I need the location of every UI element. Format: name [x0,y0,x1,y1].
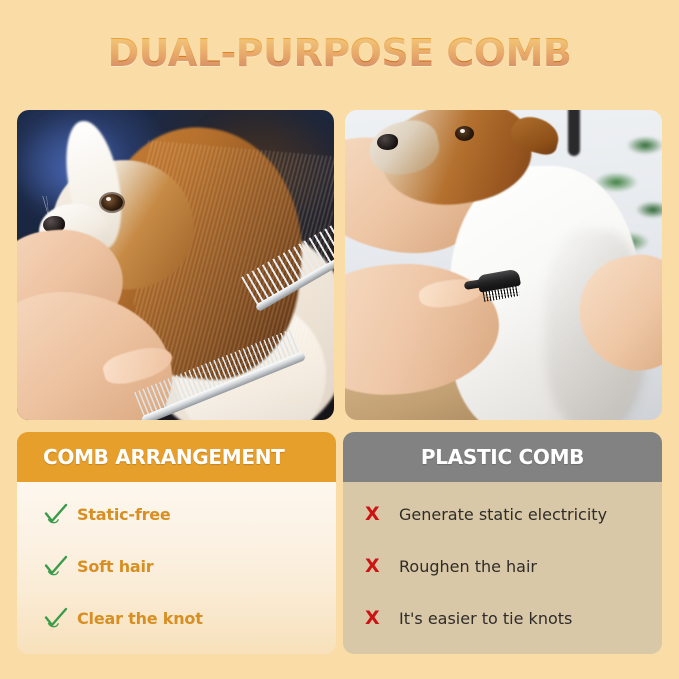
list-item-label: It's easier to tie knots [399,609,572,628]
plastic-comb-title: PLASTIC COMB [361,445,644,469]
plastic-comb-card: PLASTIC COMB X Generate static electrici… [343,432,662,654]
poster-title-container: DUAL-PURPOSE COMB [0,30,679,76]
comb-arrangement-title: COMB ARRANGEMENT [43,445,336,469]
comb-arrangement-header: COMB ARRANGEMENT [17,432,336,482]
list-item-label: Static-free [77,505,171,524]
check-icon [43,554,77,578]
dog-nose [377,134,398,150]
dog-eye [101,194,123,211]
metal-comb-photo [17,110,334,420]
product-infographic-poster: DUAL-PURPOSE COMB [0,0,679,679]
list-item-label: Soft hair [77,557,153,576]
list-item-label: Clear the knot [77,609,203,628]
check-icon [43,502,77,526]
plastic-comb-photo [345,110,662,420]
page-title: DUAL-PURPOSE COMB [108,30,572,76]
x-icon: X [365,609,399,628]
photo-row [17,110,662,420]
list-item: X It's easier to tie knots [343,592,662,644]
x-icon: X [365,505,399,524]
x-icon-glyph: X [365,609,380,628]
list-item-label: Roughen the hair [399,557,537,576]
list-item-label: Generate static electricity [399,505,607,524]
background-dark-bar [568,110,580,156]
x-icon: X [365,557,399,576]
list-item: Static-free [17,488,336,540]
x-icon-glyph: X [365,505,380,524]
plastic-comb-list: X Generate static electricity X Roughen … [343,482,662,654]
list-item: X Roughen the hair [343,540,662,592]
comb-arrangement-list: Static-free Soft hair [17,482,336,654]
list-item: X Generate static electricity [343,488,662,540]
list-item: Soft hair [17,540,336,592]
dog-eye [455,126,474,141]
check-icon [43,606,77,630]
x-icon-glyph: X [365,557,380,576]
plastic-comb-header: PLASTIC COMB [343,432,662,482]
comb-arrangement-card: COMB ARRANGEMENT Static-free [17,432,336,654]
comparison-cards: COMB ARRANGEMENT Static-free [17,432,662,654]
list-item: Clear the knot [17,592,336,644]
